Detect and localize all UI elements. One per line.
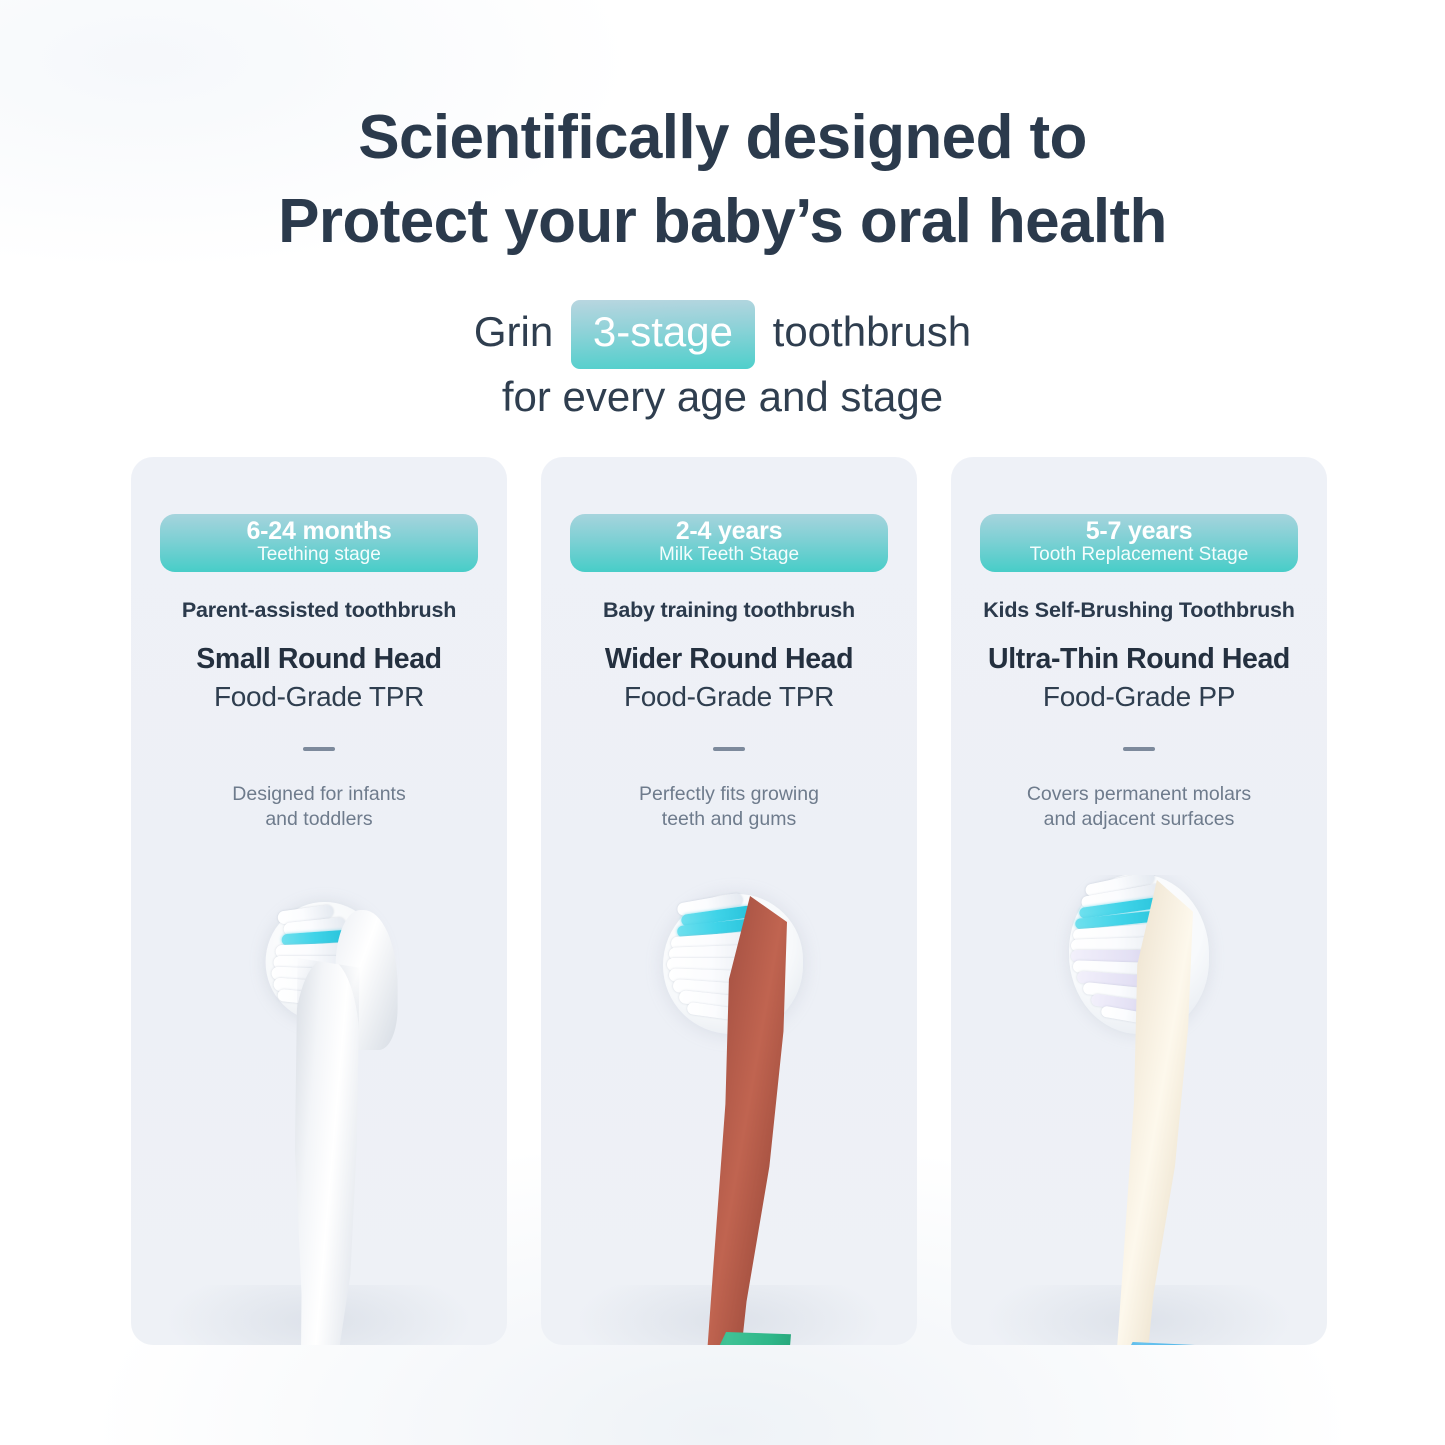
- stage-highlight-badge: 3-stage: [571, 300, 755, 369]
- page-title: Scientifically designed to Protect your …: [0, 96, 1445, 263]
- card-subheading: Parent-assisted toothbrush: [139, 598, 499, 623]
- stage-card-tooth-replacement[interactable]: 5-7 years Tooth Replacement Stage Kids S…: [951, 457, 1327, 1345]
- subtitle-after-text: toothbrush: [773, 308, 971, 355]
- divider: [1123, 747, 1155, 751]
- product-feature-page: Scientifically designed to Protect your …: [0, 0, 1445, 1445]
- age-badge: 6-24 months Teething stage: [160, 514, 478, 572]
- card-description-line-2: teeth and gums: [662, 808, 796, 830]
- product-photo-cream-toothbrush: [951, 875, 1327, 1345]
- age-badge-age: 6-24 months: [160, 518, 478, 544]
- subtitle-line-1: Grin 3-stage toothbrush: [0, 300, 1445, 369]
- stage-card-milk-teeth[interactable]: 2-4 years Milk Teeth Stage Baby training…: [541, 457, 917, 1345]
- card-material: Food-Grade PP: [957, 681, 1321, 713]
- card-description-line-2: and adjacent surfaces: [1044, 808, 1235, 830]
- card-heading: Ultra-Thin Round Head: [957, 643, 1321, 676]
- card-heading: Small Round Head: [137, 643, 501, 676]
- age-badge-stage: Teething stage: [160, 544, 478, 567]
- card-description-line-1: Perfectly fits growing: [639, 783, 819, 805]
- card-subheading: Baby training toothbrush: [549, 598, 909, 623]
- subtitle-line-2: for every age and stage: [0, 369, 1445, 426]
- card-description-line-1: Designed for infants: [232, 783, 405, 805]
- subtitle-before-text: Grin: [474, 308, 553, 355]
- divider: [303, 747, 335, 751]
- toothbrush-illustration: [232, 880, 422, 1345]
- brush-grip: [679, 1332, 791, 1345]
- card-subheading: Kids Self-Brushing Toothbrush: [959, 598, 1319, 623]
- product-photo-white-toothbrush: [131, 875, 507, 1345]
- brush-handle: [294, 958, 360, 1345]
- card-description: Perfectly fits growing teeth and gums: [555, 782, 903, 832]
- card-heading: Wider Round Head: [547, 643, 911, 676]
- card-material: Food-Grade TPR: [547, 681, 911, 713]
- toothbrush-illustration: [1049, 875, 1249, 1345]
- stage-card-teething[interactable]: 6-24 months Teething stage Parent-assist…: [131, 457, 507, 1345]
- age-badge-age: 2-4 years: [570, 518, 888, 544]
- headline-line-1: Scientifically designed to: [358, 103, 1087, 172]
- card-material: Food-Grade TPR: [137, 681, 501, 713]
- card-description: Covers permanent molars and adjacent sur…: [965, 782, 1313, 832]
- card-description-line-2: and toddlers: [265, 808, 372, 830]
- toothbrush-illustration: [641, 880, 841, 1345]
- divider: [713, 747, 745, 751]
- stage-card-list: 6-24 months Teething stage Parent-assist…: [131, 457, 1327, 1345]
- card-description-line-1: Covers permanent molars: [1027, 783, 1251, 805]
- headline-line-2: Protect your baby’s oral health: [0, 180, 1445, 264]
- age-badge-stage: Milk Teeth Stage: [570, 544, 888, 567]
- card-description: Designed for infants and toddlers: [145, 782, 493, 832]
- product-photo-brown-toothbrush: [541, 875, 917, 1345]
- subtitle: Grin 3-stage toothbrush for every age an…: [0, 300, 1445, 425]
- age-badge-age: 5-7 years: [980, 518, 1298, 544]
- age-badge-stage: Tooth Replacement Stage: [980, 544, 1298, 567]
- age-badge: 5-7 years Tooth Replacement Stage: [980, 514, 1298, 572]
- age-badge: 2-4 years Milk Teeth Stage: [570, 514, 888, 572]
